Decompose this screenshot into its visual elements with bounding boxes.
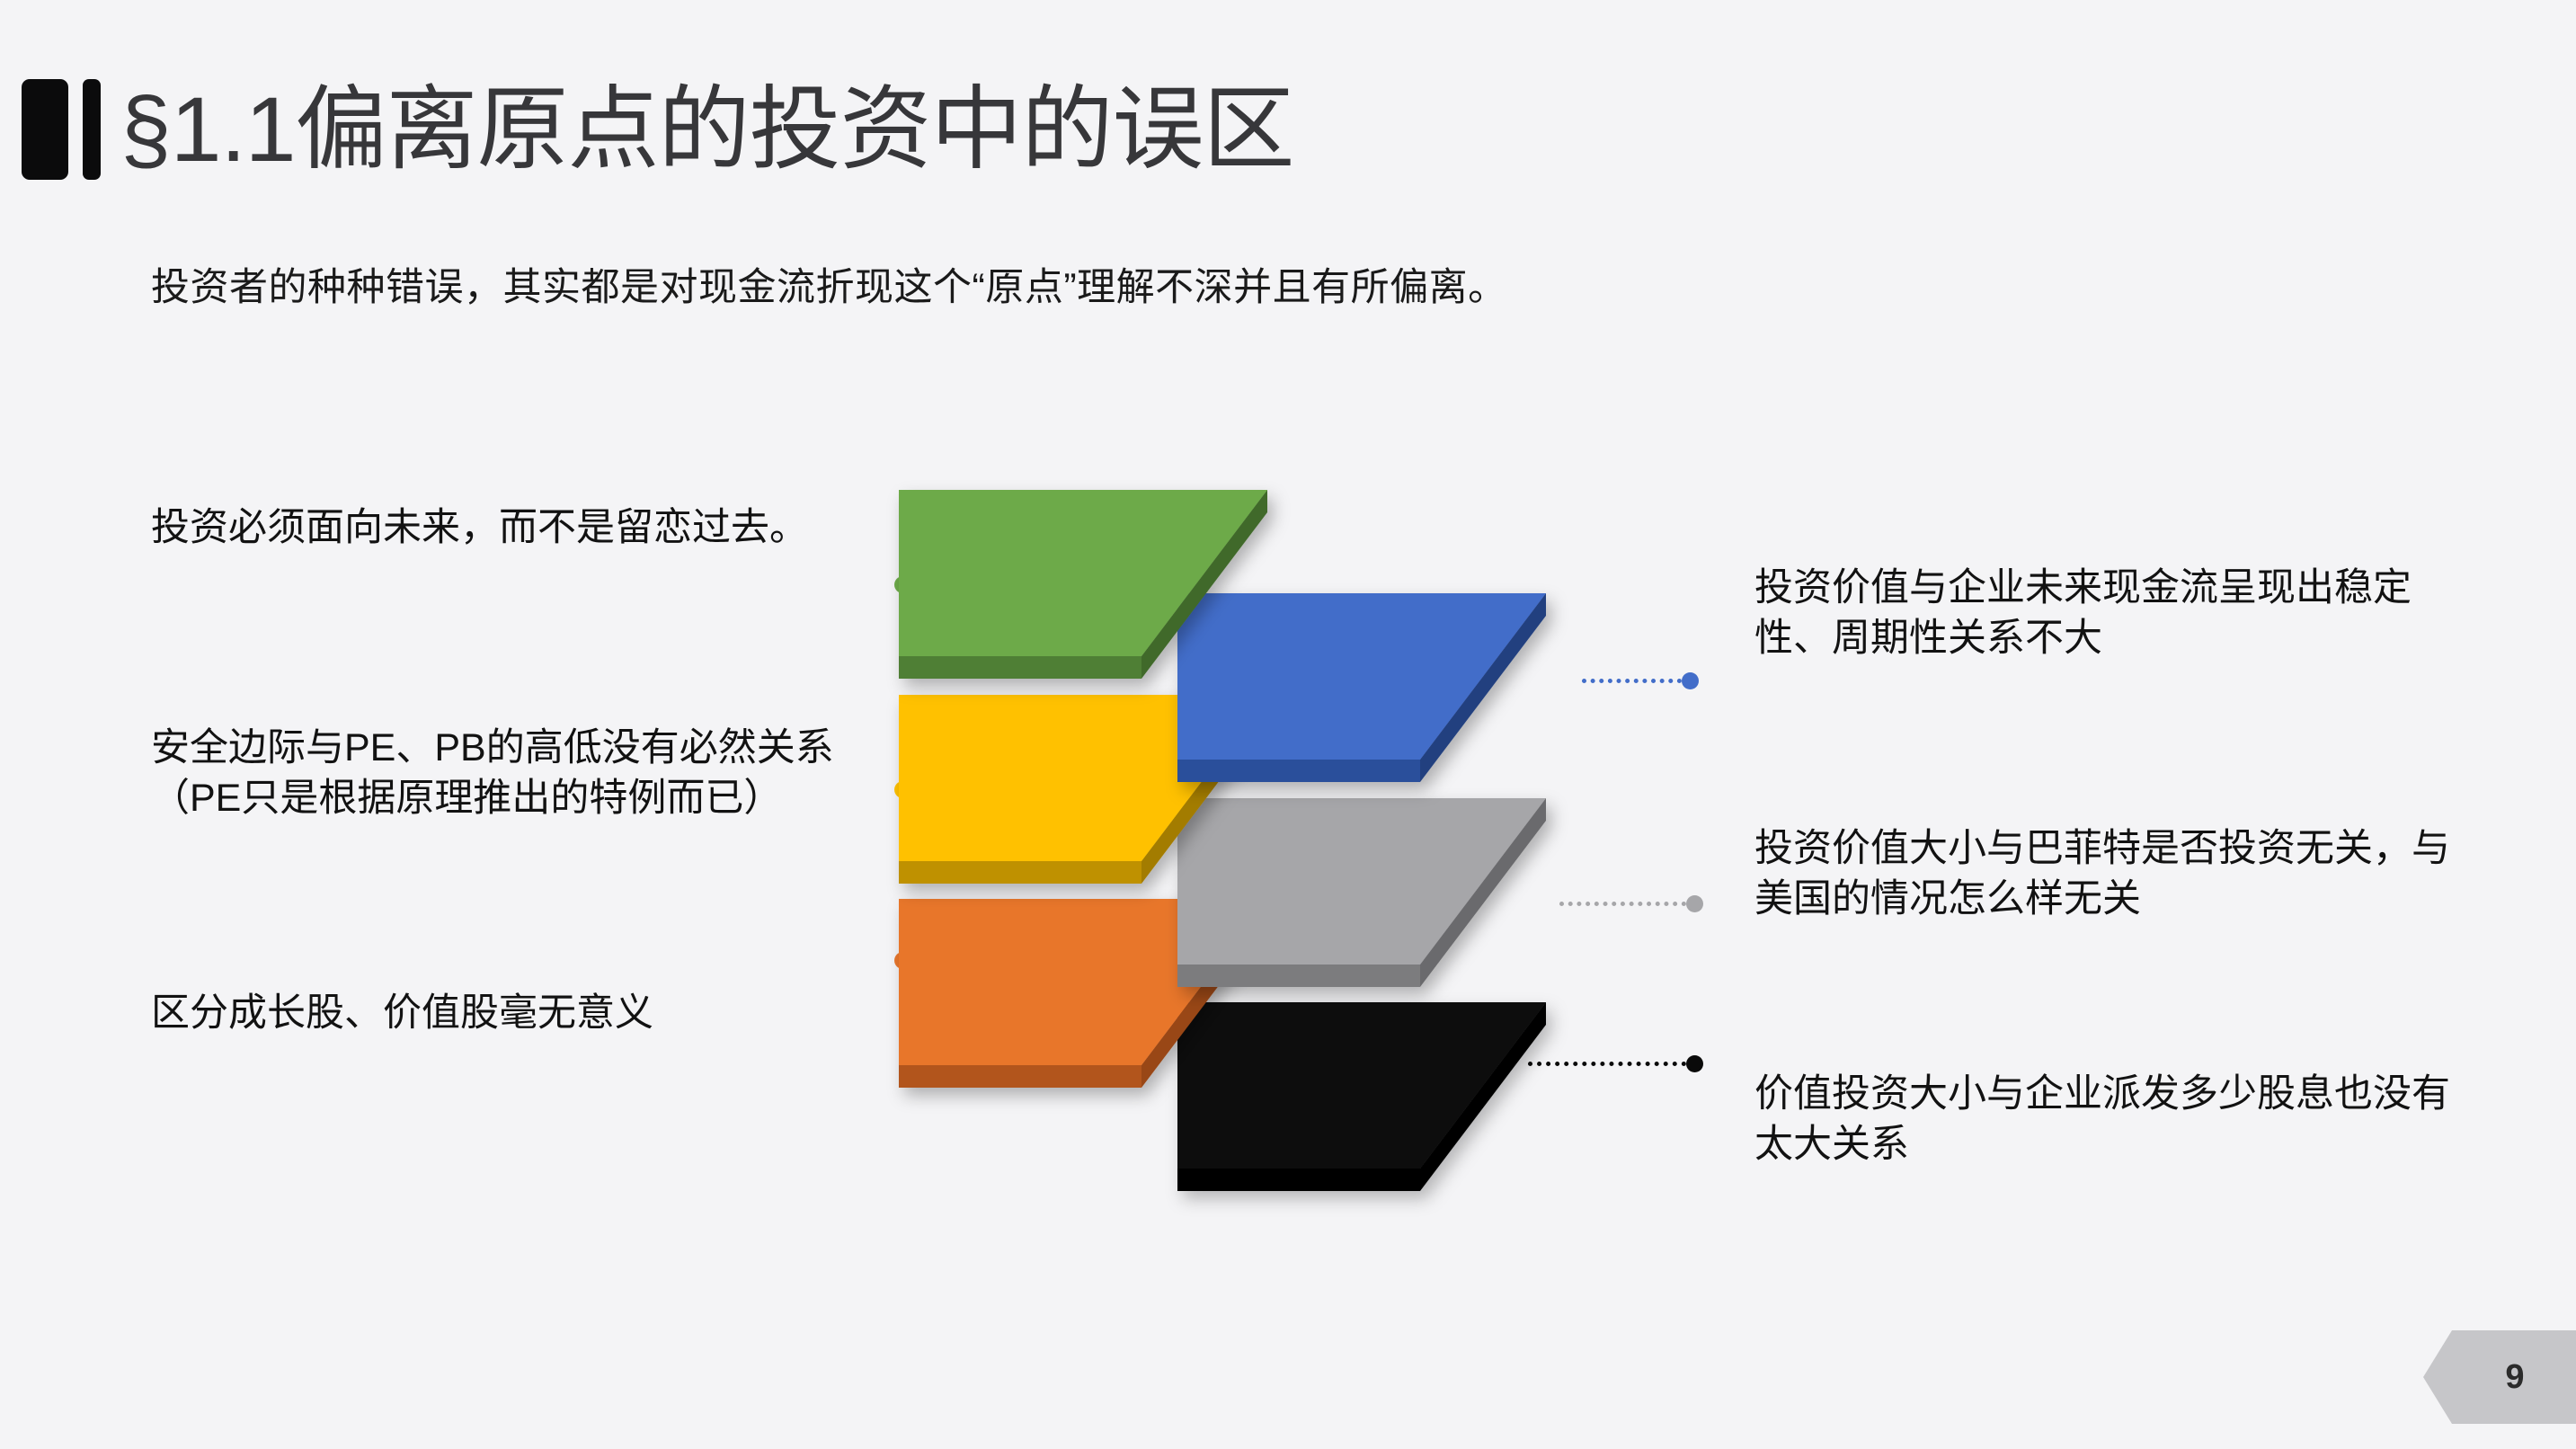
title-marker-thin-bar-icon <box>83 79 101 180</box>
title-text: §1.1偏离原点的投资中的误区 <box>120 84 1294 175</box>
subtitle-text: 投资者的种种错误，其实都是对现金流折现这个“原点”理解不深并且有所偏离。 <box>151 256 1507 312</box>
left-item-3-label: 区分成长股、价值股毫无意义 <box>151 989 879 1039</box>
page-title: §1.1偏离原点的投资中的误区 <box>22 79 1294 180</box>
page-number-text: 9 <box>2505 1358 2524 1397</box>
green-slab <box>881 485 1312 719</box>
left-item-2-label: 安全边际与PE、PB的高低没有必然关系（PE只是根据原理推出的特例而已） <box>151 724 879 824</box>
right-item-1-label: 投资价值与企业未来现金流呈现出稳定性、周期性关系不大 <box>1754 564 2474 664</box>
right-item-3-label: 价值投资大小与企业派发多少股息也没有太大关系 <box>1754 1070 2474 1170</box>
right-item-2-label: 投资价值大小与巴菲特是否投资无关，与美国的情况怎么样无关 <box>1754 824 2474 925</box>
page-number-badge: 9 <box>2423 1330 2576 1424</box>
left-item-1-label: 投资必须面向未来，而不是留恋过去。 <box>151 503 879 554</box>
slide-root: §1.1偏离原点的投资中的误区 投资者的种种错误，其实都是对现金流折现这个“原点… <box>0 0 2576 1449</box>
layered-slab-diagram <box>881 485 1690 1196</box>
title-marker-wide-bar-icon <box>22 79 68 180</box>
